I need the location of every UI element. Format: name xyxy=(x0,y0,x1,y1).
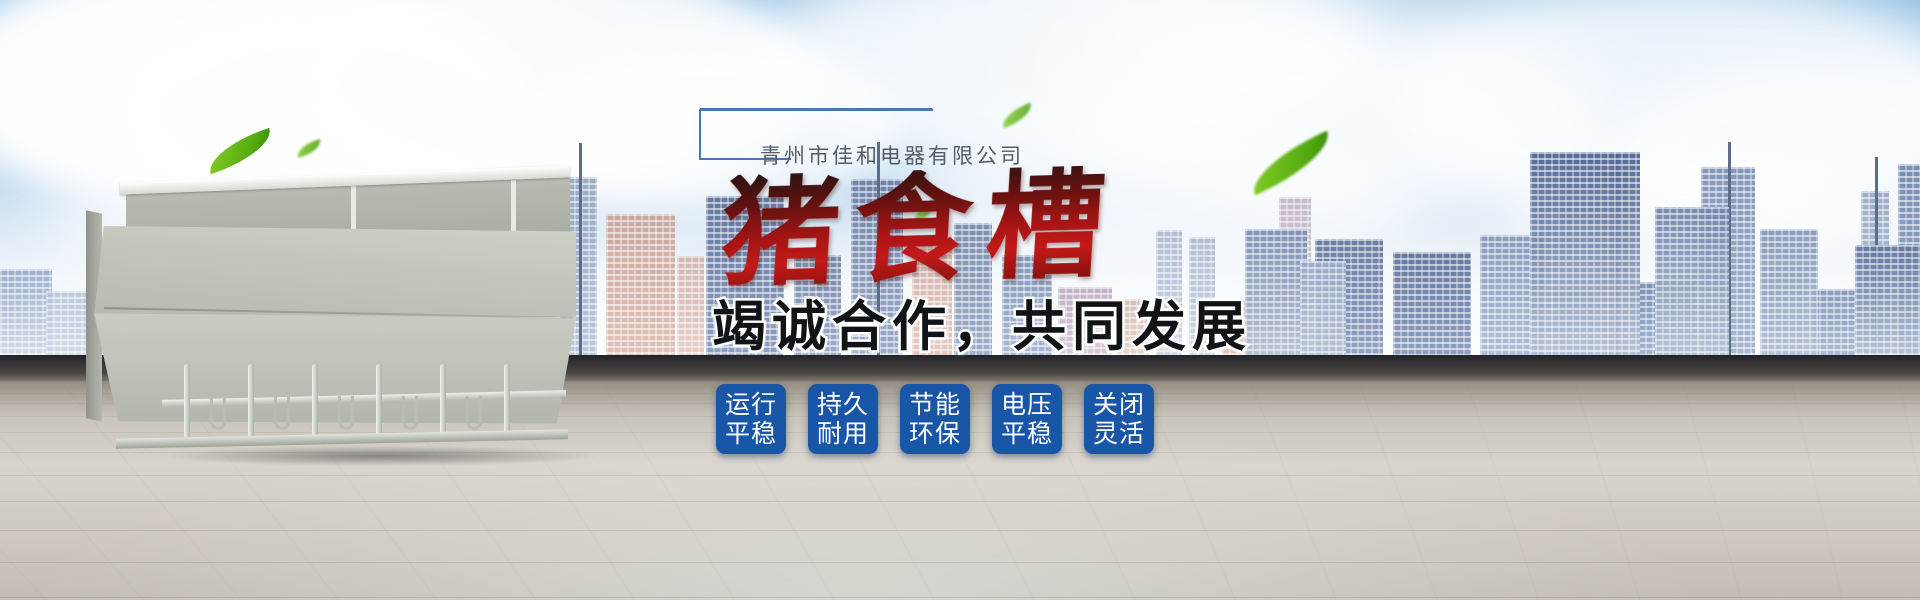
badge-line-1: 电压 xyxy=(1001,390,1053,420)
paving-line xyxy=(0,562,1920,563)
badge-line-2: 平稳 xyxy=(1001,419,1053,449)
trough-divider xyxy=(312,364,318,438)
feature-badge-5[interactable]: 关闭灵活 xyxy=(1084,384,1154,454)
trough-front-upper xyxy=(94,226,576,317)
feature-badge-1[interactable]: 运行平稳 xyxy=(716,384,786,454)
drinker-nipple xyxy=(402,396,418,430)
banner-subtitle: 竭诚合作，共同发展 xyxy=(712,300,1252,354)
badge-line-1: 运行 xyxy=(725,390,777,420)
skyline-spire xyxy=(579,143,582,357)
paving-line xyxy=(0,597,1920,598)
skyline-landmark-tower xyxy=(1760,229,1818,357)
frame-top-line xyxy=(701,109,933,111)
skyline-building xyxy=(0,269,52,357)
feature-badge-4[interactable]: 电压平稳 xyxy=(992,384,1062,454)
banner-text-block: 青州市佳和电器有限公司 猪食槽 竭诚合作，共同发展 运行平稳持久耐用节能环保电压… xyxy=(700,108,1480,538)
feature-badge-3[interactable]: 节能环保 xyxy=(900,384,970,454)
skyline-landmark-tower xyxy=(1655,207,1729,357)
badge-line-1: 持久 xyxy=(817,390,869,420)
badge-line-1: 关闭 xyxy=(1093,390,1145,420)
frame-left-line xyxy=(699,109,701,160)
badge-line-2: 环保 xyxy=(909,419,961,449)
badge-line-1: 节能 xyxy=(909,390,961,420)
feature-badge-2[interactable]: 持久耐用 xyxy=(808,384,878,454)
skyline-building xyxy=(606,214,675,357)
skyline-building xyxy=(1812,289,1856,357)
drinker-nipple xyxy=(338,396,354,430)
badge-line-2: 耐用 xyxy=(817,419,869,449)
drinker-nipple xyxy=(274,396,290,430)
trough-body xyxy=(76,160,576,460)
trough-divider xyxy=(440,364,446,438)
badge-line-2: 灵活 xyxy=(1093,419,1145,449)
skyline-landmark-tower xyxy=(1855,245,1920,357)
trough-divider xyxy=(248,364,254,438)
drinker-nipple xyxy=(466,396,482,430)
product-image-pig-feeder xyxy=(76,160,576,460)
trough-divider xyxy=(184,364,190,438)
promo-banner: 青州市佳和电器有限公司 猪食槽 竭诚合作，共同发展 运行平稳持久耐用节能环保电压… xyxy=(0,0,1920,600)
feature-badge-list: 运行平稳持久耐用节能环保电压平稳关闭灵活 xyxy=(716,384,1154,454)
trough-divider xyxy=(376,364,382,438)
drinker-nipple xyxy=(210,396,226,430)
page-title: 猪食槽 xyxy=(718,165,1122,293)
skyline-landmark-tower xyxy=(1530,152,1640,357)
product-shadow xyxy=(166,446,596,466)
badge-line-2: 平稳 xyxy=(725,419,777,449)
trough-divider xyxy=(504,364,510,438)
